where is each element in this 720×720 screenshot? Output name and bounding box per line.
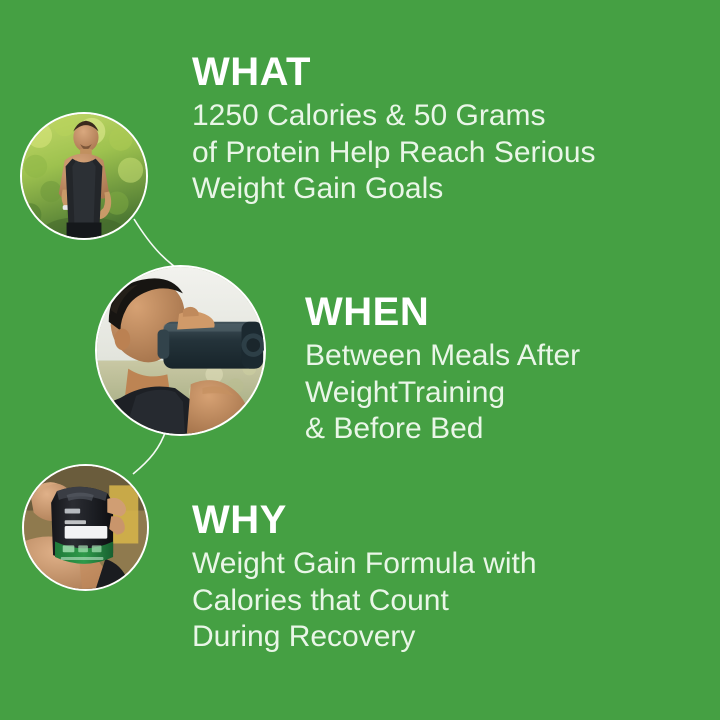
section-why: WHY Weight Gain Formula with Calories th… <box>192 500 537 656</box>
drinking-shaker-photo-image <box>97 267 264 434</box>
drinking-shaker-photo <box>95 265 266 436</box>
section-why-line-1: Weight Gain Formula with <box>192 546 537 583</box>
promo-poster: WHAT 1250 Calories & 50 Grams of Protein… <box>0 0 720 720</box>
section-when-line-3: & Before Bed <box>305 411 580 448</box>
section-what-line-1: 1250 Calories & 50 Grams <box>192 98 596 135</box>
section-why-line-3: During Recovery <box>192 619 537 656</box>
section-when-line-2: WeightTraining <box>305 375 580 412</box>
runner-photo <box>20 112 148 240</box>
product-tub-photo <box>22 464 149 591</box>
section-what-line-2: of Protein Help Reach Serious <box>192 135 596 172</box>
section-what-heading: WHAT <box>192 52 596 92</box>
section-why-heading: WHY <box>192 500 537 540</box>
section-when: WHEN Between Meals After WeightTraining … <box>305 292 580 448</box>
section-when-line-1: Between Meals After <box>305 338 580 375</box>
section-when-heading: WHEN <box>305 292 580 332</box>
section-why-line-2: Calories that Count <box>192 583 537 620</box>
product-tub-photo-image <box>24 466 147 589</box>
runner-photo-image <box>22 114 146 238</box>
section-what-line-3: Weight Gain Goals <box>192 171 596 208</box>
section-what: WHAT 1250 Calories & 50 Grams of Protein… <box>192 52 596 208</box>
